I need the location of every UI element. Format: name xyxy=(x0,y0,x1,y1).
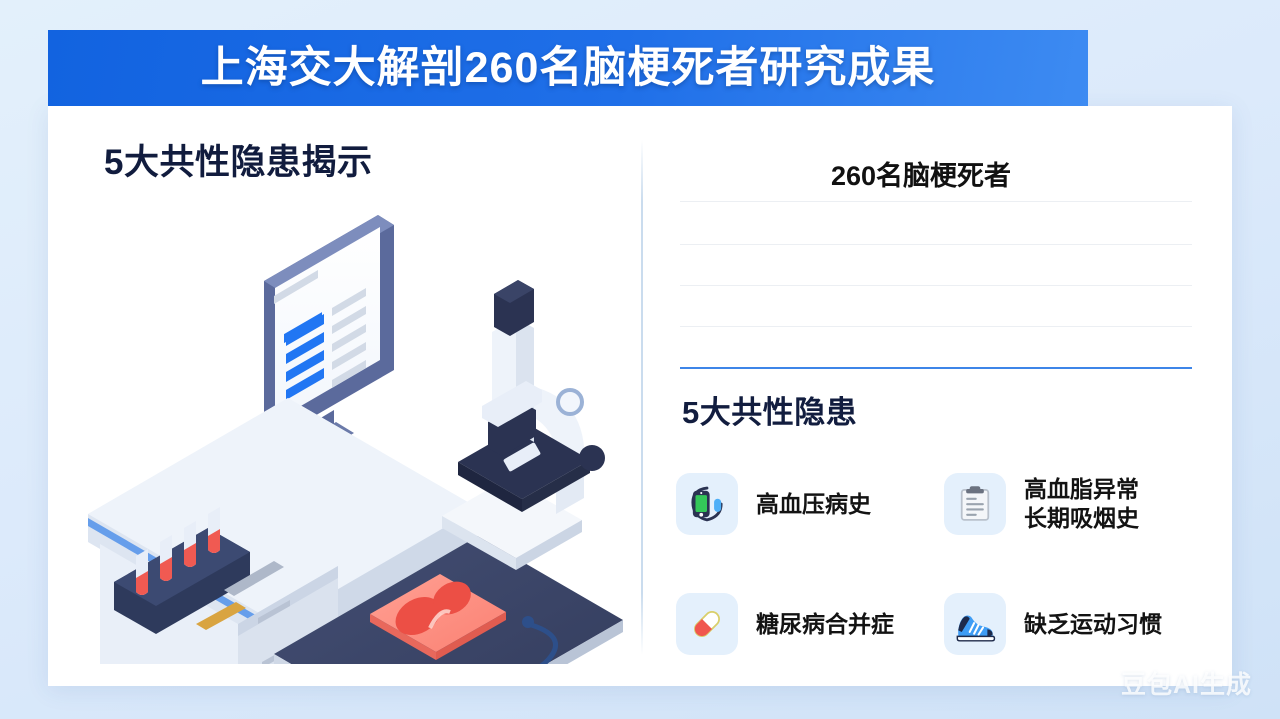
panel-divider xyxy=(641,140,643,655)
hidden-risks-heading: 5大共性隐患 xyxy=(682,387,857,432)
risk-item-label: 高血压病史 xyxy=(756,490,871,519)
risk-item-label: 高血脂异常 长期吸烟史 xyxy=(1024,475,1139,532)
clipboard-report-icon xyxy=(944,473,1006,535)
title-banner: 上海交大解剖260名脑梗死者研究成果 xyxy=(48,30,1088,106)
isometric-pathology-lab-illustration xyxy=(78,184,623,664)
risk-item-hypertension[interactable]: 高血压病史 xyxy=(676,444,944,564)
ai-watermark: 豆包AI生成 xyxy=(1121,665,1252,701)
risk-item-label: 缺乏运动习惯 xyxy=(1024,610,1162,639)
risk-item-diabetes[interactable]: 糖尿病合并症 xyxy=(676,564,944,684)
running-shoe-icon xyxy=(944,593,1006,655)
risk-item-grid: 高血压病史 高血脂异常 长期吸烟史 xyxy=(676,444,1232,684)
mortality-distribution-bar-chart xyxy=(680,201,1192,369)
risk-item-label: 糖尿病合并症 xyxy=(756,610,894,639)
blood-pressure-monitor-icon xyxy=(676,473,738,535)
x-axis xyxy=(680,367,1192,369)
left-panel-heading: 5大共性隐患揭示 xyxy=(104,134,372,185)
risk-item-hyperlipidemia-smoking[interactable]: 高血脂异常 长期吸烟史 xyxy=(944,444,1232,564)
page-title: 上海交大解剖260名脑梗死者研究成果 xyxy=(201,47,936,90)
capsule-pill-icon xyxy=(676,593,738,655)
chart-title: 260名脑梗死者 xyxy=(641,154,1201,193)
bar-series xyxy=(680,201,1192,367)
microscope-icon xyxy=(442,280,605,570)
content-card: 5大共性隐患揭示 xyxy=(48,106,1232,686)
